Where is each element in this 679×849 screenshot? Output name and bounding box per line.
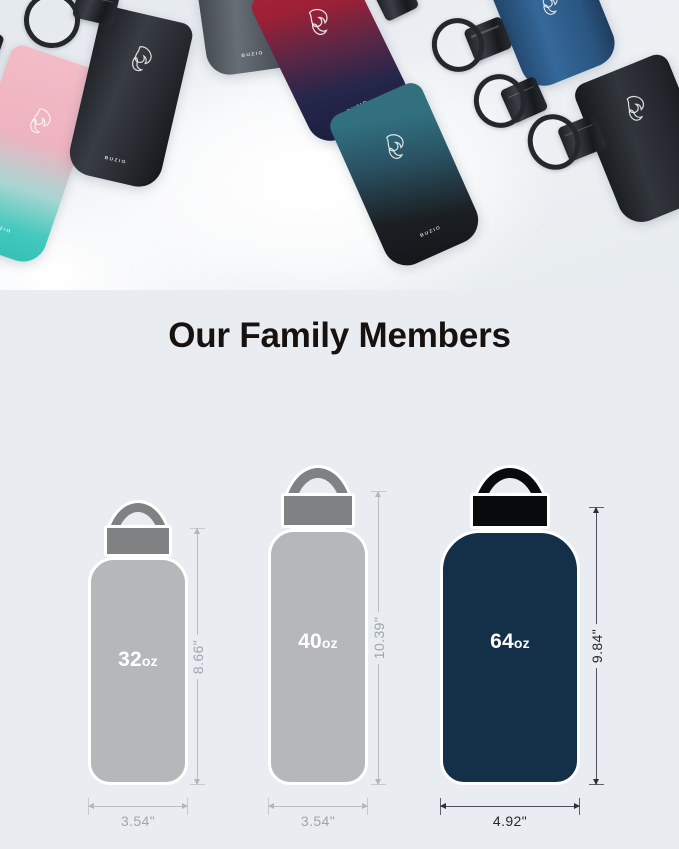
height-label-40oz: 10.39" — [371, 612, 387, 664]
capacity-unit-40oz: oz — [322, 635, 338, 651]
capacity-number-40oz: 40 — [298, 630, 322, 653]
bottle-cap-32oz — [104, 525, 172, 557]
capacity-number-64oz: 64 — [490, 630, 514, 653]
conch-shell-logo-icon — [18, 102, 57, 142]
dim-arrow-top — [593, 507, 599, 513]
bottle-cap-40oz — [281, 493, 355, 528]
dim-arrow-bottom — [593, 779, 599, 785]
page-title: Our Family Members — [0, 316, 679, 356]
dim-arrow-right — [182, 803, 188, 809]
width-dimension-64oz: 4.92" — [440, 806, 580, 807]
dim-line — [268, 806, 368, 807]
conch-shell-logo-icon — [530, 0, 567, 24]
hero-brand-text: BUZIO — [241, 50, 264, 58]
hero-product-photo: BUZIO BUZIO BUZIO BUZIO — [0, 0, 679, 290]
hero-brand-text: BUZIO — [104, 155, 127, 165]
dim-arrow-top — [194, 528, 200, 534]
width-label-64oz: 4.92" — [440, 813, 580, 829]
conch-shell-logo-icon — [296, 2, 340, 47]
conch-shell-logo-icon — [374, 128, 414, 169]
dim-arrow-left — [88, 803, 94, 809]
dim-arrow-right — [574, 803, 580, 809]
capacity-label-40oz: 40oz — [271, 630, 365, 654]
width-dimension-32oz: 3.54" — [88, 806, 188, 807]
dim-arrow-top — [375, 491, 381, 497]
width-label-40oz: 3.54" — [268, 813, 368, 829]
bottle-body-64oz: 64oz — [440, 530, 580, 785]
dim-line — [88, 806, 188, 807]
dim-arrow-bottom — [194, 779, 200, 785]
bottle-cap-64oz — [470, 493, 550, 529]
spec-bottle-64oz: 64oz 9.84" 4.92" — [430, 440, 630, 849]
height-dimension-40oz: 10.39" — [378, 491, 379, 785]
capacity-unit-32oz: oz — [142, 653, 158, 669]
spec-bottle-32oz: 32oz 8.66" 3.54" — [60, 440, 220, 849]
width-dimension-40oz: 3.54" — [268, 806, 368, 807]
size-comparison-diagram: 32oz 8.66" 3.54" — [0, 440, 679, 849]
conch-shell-logo-icon — [121, 41, 157, 79]
dim-line — [440, 806, 580, 807]
hero-brand-text: BUZIO — [419, 225, 442, 239]
spec-bottle-40oz: 40oz 10.39" 3.54" — [250, 440, 420, 849]
hero-brand-text: BUZIO — [0, 223, 12, 235]
dim-arrow-right — [362, 803, 368, 809]
height-dimension-64oz: 9.84" — [596, 507, 597, 785]
bottle-body-40oz: 40oz — [268, 529, 368, 785]
height-label-64oz: 9.84" — [589, 624, 605, 668]
dim-arrow-left — [440, 803, 446, 809]
capacity-number-32oz: 32 — [118, 648, 142, 671]
height-dimension-32oz: 8.66" — [197, 528, 198, 785]
capacity-label-64oz: 64oz — [443, 630, 577, 654]
bottle-silhouette-40oz: 40oz — [268, 465, 368, 785]
bottle-body-32oz: 32oz — [88, 557, 188, 785]
product-infographic-page: BUZIO BUZIO BUZIO BUZIO — [0, 0, 679, 849]
dim-arrow-bottom — [375, 779, 381, 785]
capacity-unit-64oz: oz — [514, 635, 530, 651]
width-label-32oz: 3.54" — [88, 813, 188, 829]
bottle-silhouette-64oz: 64oz — [440, 465, 580, 785]
dim-arrow-left — [268, 803, 274, 809]
bottle-silhouette-32oz: 32oz — [88, 500, 188, 785]
capacity-label-32oz: 32oz — [91, 648, 185, 672]
height-label-32oz: 8.66" — [190, 634, 206, 678]
conch-shell-logo-icon — [614, 90, 654, 131]
